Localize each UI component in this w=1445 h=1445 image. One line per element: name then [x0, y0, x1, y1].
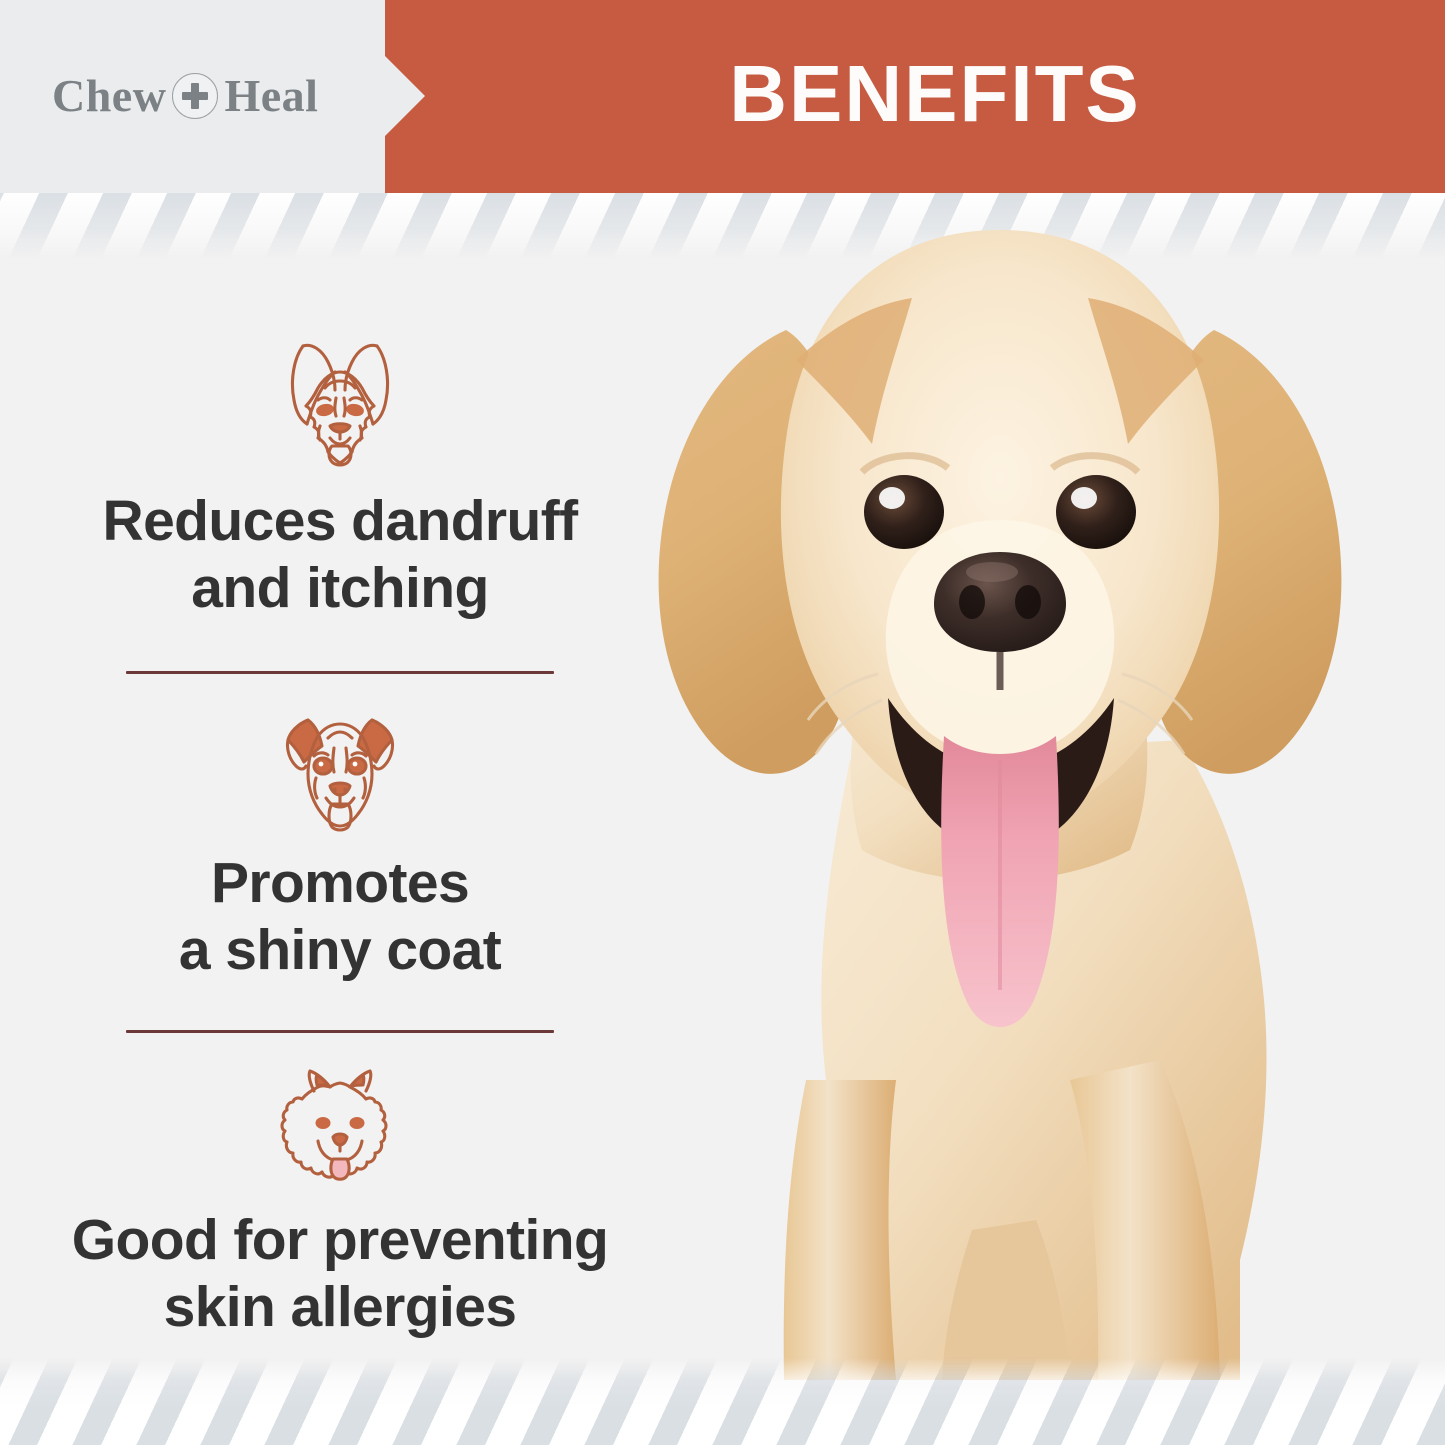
- brand-logo-chew: Chew: [52, 73, 166, 119]
- yellow-labrador-puppy-photo: [600, 200, 1445, 1380]
- puppy-front-left-leg: [784, 1080, 896, 1380]
- puppy-left-eye: [864, 475, 944, 549]
- benefits-infographic: BENEFITS Chew Heal: [0, 0, 1445, 1445]
- benefit-text-line-2: skin allergies: [40, 1274, 640, 1341]
- fluffy-dog-face-icon: [276, 1061, 404, 1193]
- benefits-list: Reduces dandruff and itching: [0, 300, 680, 1342]
- plus-in-circle-icon: [172, 73, 218, 119]
- benefit-text-line-1: Reduces dandruff: [40, 488, 640, 555]
- benefit-text-line-1: Promotes: [40, 850, 640, 917]
- page-title: BENEFITS: [425, 0, 1445, 193]
- benefit-text-line-1: Good for preventing: [40, 1207, 640, 1274]
- benefit-item: Promotes a shiny coat: [0, 674, 680, 985]
- benefit-text: Promotes a shiny coat: [0, 850, 680, 985]
- benefit-text: Reduces dandruff and itching: [0, 488, 680, 623]
- benefit-text-line-2: and itching: [40, 555, 640, 622]
- benefit-item: Good for preventing skin allergies: [0, 1033, 680, 1342]
- brand-logo-heal: Heal: [224, 73, 318, 119]
- puppy-right-eye: [1056, 475, 1136, 549]
- brand-logo: Chew Heal: [52, 65, 318, 127]
- terrier-dog-face-icon: [274, 696, 406, 836]
- corgi-dog-face-icon: [270, 326, 410, 474]
- benefit-item: Reduces dandruff and itching: [0, 300, 680, 623]
- benefit-text-line-2: a shiny coat: [40, 917, 640, 984]
- benefit-text: Good for preventing skin allergies: [0, 1207, 680, 1342]
- bottom-stripe-band: [0, 1358, 1445, 1445]
